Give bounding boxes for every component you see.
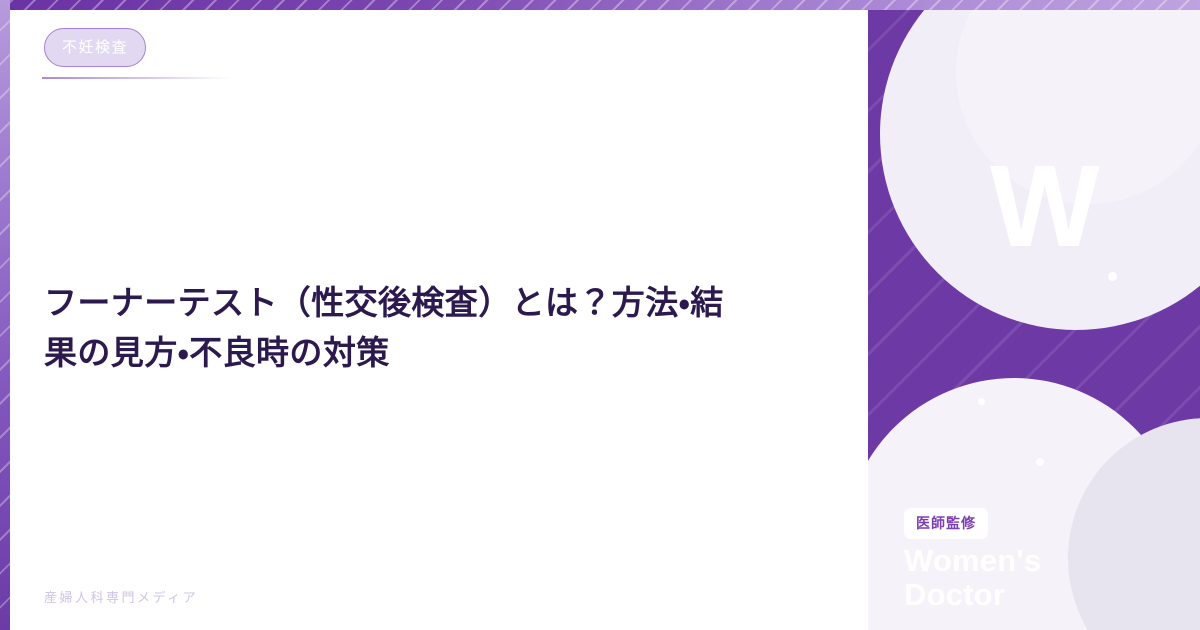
media-tagline: 産婦人科専門メディア xyxy=(44,587,198,606)
decorative-dot xyxy=(1108,272,1117,281)
top-gradient-bar xyxy=(0,0,1200,10)
brand-panel: W 医師監修 Women's Doctor xyxy=(868,0,1200,630)
watermark-w-logo: W xyxy=(990,148,1097,264)
brand-lockup: 医師監修 Women's Doctor xyxy=(904,508,1041,612)
page-title: フーナーテスト（性交後検査）とは？方法・結果の見方・不良時の対策 xyxy=(44,278,744,378)
left-gradient-strip xyxy=(0,0,10,630)
category-badge: 不妊検査 xyxy=(44,28,146,67)
content-area: 不妊検査 フーナーテスト（性交後検査）とは？方法・結果の見方・不良時の対策 産婦… xyxy=(0,0,868,630)
supervision-badge: 医師監修 xyxy=(904,508,988,539)
decorative-dot xyxy=(1036,458,1044,466)
brand-name: Women's Doctor xyxy=(904,544,1041,612)
category-underline-rule xyxy=(42,77,232,79)
brand-name-line-2: Doctor xyxy=(904,578,1041,612)
og-image-canvas: W 医師監修 Women's Doctor 不妊検査 フーナーテスト（性交後検査… xyxy=(0,0,1200,630)
decorative-dot xyxy=(978,398,985,405)
brand-name-line-1: Women's xyxy=(904,544,1041,578)
